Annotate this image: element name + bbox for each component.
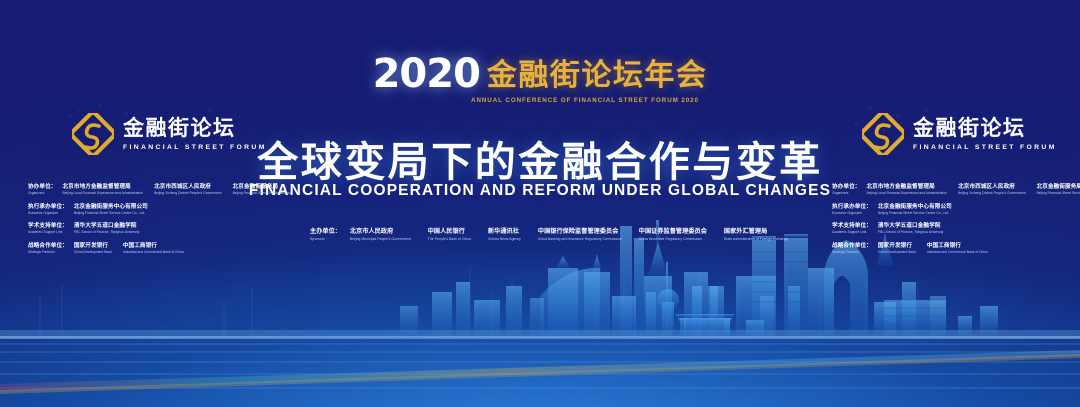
credit-unit-cn: 北京市西城区人民政府 <box>958 183 1026 191</box>
credit-unit: 新华通讯社Xinhua News Agency <box>488 228 521 242</box>
credit-unit-en: China Development Bank <box>74 250 112 255</box>
credit-unit-cn: 国家外汇管理局 <box>724 228 788 237</box>
credit-role-label-en: Strategic Partners <box>28 250 68 255</box>
event-title-en: ANNUAL CONFERENCE OF FINANCIAL STREET FO… <box>0 97 1080 104</box>
credit-role-label: 主办单位：Sponsors <box>310 228 350 242</box>
credit-unit: 国家开发银行China Development Bank <box>878 242 916 255</box>
credit-unit-en: Industrial and Commercial Bank of China <box>123 250 184 255</box>
credit-row: 学术支持单位：Academic Support Unit清华大学五道口金融学院P… <box>28 222 293 235</box>
credit-role-label-en: Academic Support Unit <box>28 230 68 235</box>
credit-unit: 中国工商银行Industrial and Commercial Bank of … <box>927 242 988 255</box>
credit-unit-list: 清华大学五道口金融学院PBC School of Finance, Tsingh… <box>878 222 944 235</box>
credit-unit-en: China Securities Regulatory Commission <box>639 237 707 242</box>
credits-block-center: 主办单位：Sponsors北京市人民政府Beijing Municipal Pe… <box>310 228 780 249</box>
credit-unit-en: The People's Bank of China <box>428 237 471 242</box>
credit-row: 主办单位：Sponsors北京市人民政府Beijing Municipal Pe… <box>310 228 780 242</box>
forum-name-en: FINANCIAL STREET FORUM <box>123 144 267 151</box>
credit-unit-en: Beijing Xicheng District People's Govern… <box>958 191 1026 196</box>
credit-row: 协办单位：Organizers北京市地方金融监督管理局Beijing Local… <box>28 183 293 196</box>
credit-role-label: 执行承办单位：Executive Organizer <box>28 203 74 216</box>
credit-row: 执行承办单位：Executive Organizer北京金融街服务中心有限公司B… <box>832 203 1080 216</box>
credit-unit-cn: 北京金融街服务局 <box>233 183 291 191</box>
credit-unit-en: Beijing Financial Street Service Center … <box>74 211 148 216</box>
credit-unit-en: Beijing Financial Street Service Bureau <box>233 191 291 196</box>
credit-role-label-en: Organizers <box>28 191 56 196</box>
credit-unit: 中国银行保险监督管理委员会China Banking and Insurance… <box>538 228 622 242</box>
credit-row: 学术支持单位：Academic Support Unit清华大学五道口金融学院P… <box>832 222 1080 235</box>
credit-role-label: 协办单位：Organizers <box>28 183 62 196</box>
credit-unit: 北京金融街服务中心有限公司Beijing Financial Street Se… <box>74 203 148 216</box>
forum-name-en: FINANCIAL STREET FORUM <box>913 144 1057 151</box>
credit-role-label-cn: 执行承办单位： <box>28 203 68 211</box>
credit-row: 战略合作单位：Strategic Partners国家开发银行China Dev… <box>832 242 1080 255</box>
credit-role-label-cn: 学术支持单位： <box>28 222 68 230</box>
credit-unit-list: 国家开发银行China Development Bank中国工商银行Indust… <box>74 242 184 255</box>
forum-name-cn: 金融街论坛 <box>913 117 1057 141</box>
credit-unit: 北京市人民政府Beijing Municipal People's Govern… <box>350 228 411 242</box>
credit-unit: 清华大学五道口金融学院PBC School of Finance, Tsingh… <box>74 222 140 235</box>
credit-role-label-cn: 执行承办单位： <box>832 203 872 211</box>
credit-unit-list: 北京金融街服务中心有限公司Beijing Financial Street Se… <box>878 203 952 216</box>
credit-role-label: 战略合作单位：Strategic Partners <box>832 242 878 255</box>
credit-role-label-cn: 学术支持单位： <box>832 222 872 230</box>
credit-unit-en: Beijing Local Financial Supervision and … <box>62 191 143 196</box>
credit-unit-cn: 中国银行保险监督管理委员会 <box>538 228 622 237</box>
credit-unit: 清华大学五道口金融学院PBC School of Finance, Tsingh… <box>878 222 944 235</box>
credits-block-right: 协办单位：Organizers北京市地方金融监督管理局Beijing Local… <box>832 183 1080 262</box>
conference-backdrop: 2020 金融街论坛年会 ANNUAL CONFERENCE OF FINANC… <box>0 0 1080 407</box>
credit-unit-en: Beijing Financial Street Service Center … <box>878 211 952 216</box>
credit-row: 协办单位：Organizers北京市地方金融监督管理局Beijing Local… <box>832 183 1080 196</box>
credit-unit: 北京市地方金融监督管理局Beijing Local Financial Supe… <box>866 183 947 196</box>
credit-role-label-en: Academic Support Unit <box>832 230 872 235</box>
credit-unit-cn: 中国工商银行 <box>927 242 988 250</box>
credit-unit-cn: 国家开发银行 <box>878 242 916 250</box>
credit-row: 战略合作单位：Strategic Partners国家开发银行China Dev… <box>28 242 293 255</box>
credit-unit: 北京金融街服务局Beijing Financial Street Service… <box>233 183 291 196</box>
credit-unit-en: China Development Bank <box>878 250 916 255</box>
credit-unit-en: Industrial and Commercial Bank of China <box>927 250 988 255</box>
credit-unit-cn: 北京市地方金融监督管理局 <box>866 183 947 191</box>
credit-unit: 北京金融街服务中心有限公司Beijing Financial Street Se… <box>878 203 952 216</box>
year-row: 2020 金融街论坛年会 <box>373 55 708 93</box>
credit-unit-cn: 北京市西城区人民政府 <box>154 183 222 191</box>
credit-role-label-cn: 战略合作单位： <box>28 242 68 250</box>
credit-unit-cn: 中国人民银行 <box>428 228 471 237</box>
credit-row: 执行承办单位：Executive Organizer北京金融街服务中心有限公司B… <box>28 203 293 216</box>
credit-unit-list: 北京市人民政府Beijing Municipal People's Govern… <box>350 228 805 242</box>
credit-unit-en: PBC School of Finance, Tsinghua Universi… <box>74 230 140 235</box>
credit-role-label: 执行承办单位：Executive Organizer <box>832 203 878 216</box>
credit-unit-list: 清华大学五道口金融学院PBC School of Finance, Tsingh… <box>74 222 140 235</box>
credits-block-left: 协办单位：Organizers北京市地方金融监督管理局Beijing Local… <box>28 183 293 262</box>
credit-unit-list: 北京市地方金融监督管理局Beijing Local Financial Supe… <box>866 183 1080 196</box>
forum-logo-right: 金融街论坛 FINANCIAL STREET FORUM <box>862 113 1057 155</box>
credit-unit-cn: 北京金融街服务中心有限公司 <box>878 203 952 211</box>
credit-unit-cn: 国家开发银行 <box>74 242 112 250</box>
credit-unit-en: PBC School of Finance, Tsinghua Universi… <box>878 230 944 235</box>
credit-role-label: 协办单位：Organizers <box>832 183 866 196</box>
forum-logo-left: 金融街论坛 FINANCIAL STREET FORUM <box>72 113 267 155</box>
credit-role-label-cn: 协办单位： <box>28 183 56 191</box>
credit-unit: 中国证券监督管理委员会China Securities Regulatory C… <box>639 228 707 242</box>
credit-role-label-en: Sponsors <box>310 237 341 242</box>
credit-unit-list: 北京金融街服务中心有限公司Beijing Financial Street Se… <box>74 203 148 216</box>
credit-unit-list: 国家开发银行China Development Bank中国工商银行Indust… <box>878 242 988 255</box>
credit-unit-en: Beijing Local Financial Supervision and … <box>866 191 947 196</box>
credit-role-label-en: Organizers <box>832 191 860 196</box>
credit-unit-en: State Administration of Foreign Exchange <box>724 237 788 242</box>
forum-logo-text-left: 金融街论坛 FINANCIAL STREET FORUM <box>123 117 267 150</box>
credit-role-label: 学术支持单位：Academic Support Unit <box>28 222 74 235</box>
credit-unit-cn: 中国证券监督管理委员会 <box>639 228 707 237</box>
credit-role-label: 学术支持单位：Academic Support Unit <box>832 222 878 235</box>
credit-unit: 北京市西城区人民政府Beijing Xicheng District Peopl… <box>154 183 222 196</box>
credit-role-label-cn: 战略合作单位： <box>832 242 872 250</box>
event-title-cn: 金融街论坛年会 <box>487 61 708 93</box>
credit-unit-cn: 北京金融街服务中心有限公司 <box>74 203 148 211</box>
event-title-lockup: 2020 金融街论坛年会 ANNUAL CONFERENCE OF FINANC… <box>0 55 1080 104</box>
credit-unit: 北京金融街服务局Beijing Financial Street Service… <box>1037 183 1080 196</box>
credit-unit-cn: 新华通讯社 <box>488 228 521 237</box>
credit-role-label-cn: 主办单位： <box>310 228 341 237</box>
credit-role-label-cn: 协办单位： <box>832 183 860 191</box>
credit-unit-cn: 中国工商银行 <box>123 242 184 250</box>
credit-unit-en: Beijing Municipal People's Government <box>350 237 411 242</box>
financial-street-forum-s-mark-icon <box>862 113 904 155</box>
forum-logo-text-right: 金融街论坛 FINANCIAL STREET FORUM <box>913 117 1057 150</box>
credit-unit-en: China Banking and Insurance Regulatory C… <box>538 237 622 242</box>
credit-role-label: 战略合作单位：Strategic Partners <box>28 242 74 255</box>
credit-unit: 北京市地方金融监督管理局Beijing Local Financial Supe… <box>62 183 143 196</box>
credit-unit: 北京市西城区人民政府Beijing Xicheng District Peopl… <box>958 183 1026 196</box>
credit-unit: 中国人民银行The People's Bank of China <box>428 228 471 242</box>
event-year: 2020 <box>373 55 480 93</box>
credit-unit-cn: 清华大学五道口金融学院 <box>74 222 140 230</box>
credit-unit-list: 北京市地方金融监督管理局Beijing Local Financial Supe… <box>62 183 290 196</box>
credit-unit-cn: 北京市人民政府 <box>350 228 411 237</box>
credit-unit: 国家外汇管理局State Administration of Foreign E… <box>724 228 788 242</box>
credit-unit-en: Beijing Financial Street Service Bureau <box>1037 191 1080 196</box>
credit-role-label-en: Executive Organizer <box>832 211 872 216</box>
financial-street-forum-s-mark-icon <box>72 113 114 155</box>
credit-unit: 中国工商银行Industrial and Commercial Bank of … <box>123 242 184 255</box>
credit-role-label-en: Executive Organizer <box>28 211 68 216</box>
credit-unit-cn: 清华大学五道口金融学院 <box>878 222 944 230</box>
credit-role-label-en: Strategic Partners <box>832 250 872 255</box>
credit-unit-en: Beijing Xicheng District People's Govern… <box>154 191 222 196</box>
credit-unit-en: Xinhua News Agency <box>488 237 521 242</box>
credit-unit: 国家开发银行China Development Bank <box>74 242 112 255</box>
credit-unit-cn: 北京金融街服务局 <box>1037 183 1080 191</box>
forum-name-cn: 金融街论坛 <box>123 117 267 141</box>
credit-unit-cn: 北京市地方金融监督管理局 <box>62 183 143 191</box>
